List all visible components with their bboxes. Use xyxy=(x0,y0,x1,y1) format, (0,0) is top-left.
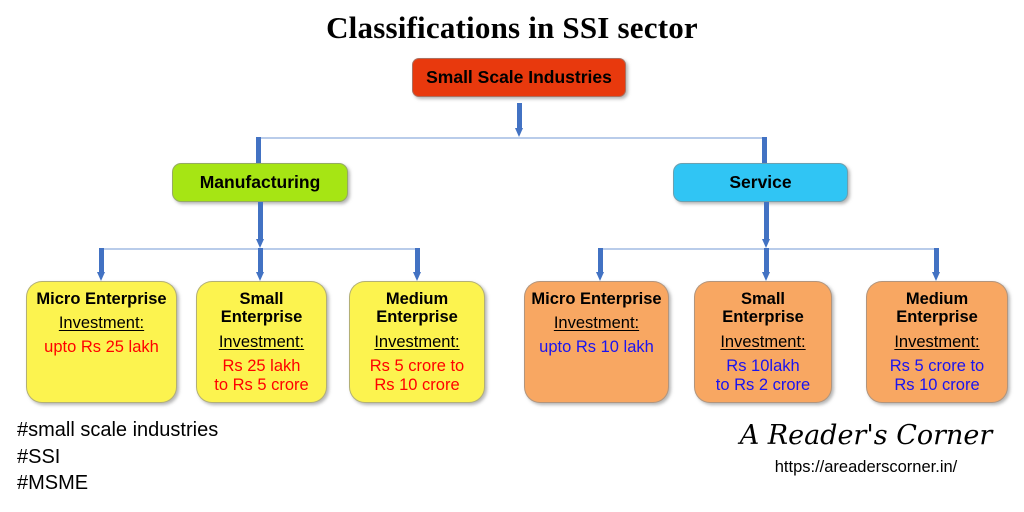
card-manufacturing-micro-enterprise[interactable]: Micro Enterprise Investment: upto Rs 25 … xyxy=(26,281,177,403)
brand-url[interactable]: https://areaderscorner.in/ xyxy=(726,458,1006,477)
card-service-micro-enterprise[interactable]: Micro Enterprise Investment: upto Rs 10 … xyxy=(524,281,669,403)
investment-value: Rs 10lakh to Rs 2 crore xyxy=(716,357,810,394)
investment-label: Investment: xyxy=(554,314,639,333)
enterprise-name: Micro Enterprise xyxy=(36,290,166,308)
connector-stub-manufacturing xyxy=(256,137,261,163)
investment-label: Investment: xyxy=(219,333,304,352)
connector-arrow-m-micro xyxy=(97,248,106,281)
node-manufacturing[interactable]: Manufacturing xyxy=(172,163,348,202)
investment-value: Rs 5 crore to Rs 10 crore xyxy=(890,357,984,394)
connector-stub-service xyxy=(762,137,767,163)
card-service-small-enterprise[interactable]: Small Enterprise Investment: Rs 10lakh t… xyxy=(694,281,832,403)
investment-value: Rs 5 crore to Rs 10 crore xyxy=(370,357,464,394)
connector-arrow-s-small xyxy=(762,248,771,281)
connector-arrow-root-down xyxy=(515,103,524,137)
brand-name: A Reader's Corner xyxy=(726,420,1006,451)
card-manufacturing-small-enterprise[interactable]: Small Enterprise Investment: Rs 25 lakh … xyxy=(196,281,327,403)
node-label: Manufacturing xyxy=(200,172,321,193)
node-small-scale-industries[interactable]: Small Scale Industries xyxy=(412,58,626,97)
connector-arrow-service-down xyxy=(762,202,771,248)
enterprise-name: Small Enterprise xyxy=(699,290,827,327)
enterprise-name: Medium Enterprise xyxy=(354,290,480,327)
investment-value: Rs 25 lakh to Rs 5 crore xyxy=(214,357,308,394)
investment-label: Investment: xyxy=(894,333,979,352)
connector-arrow-s-medium xyxy=(932,248,941,281)
enterprise-name: Micro Enterprise xyxy=(531,290,661,308)
investment-label: Investment: xyxy=(720,333,805,352)
connector-arrow-m-small xyxy=(256,248,265,281)
connector-arrow-s-micro xyxy=(596,248,605,281)
investment-label: Investment: xyxy=(374,333,459,352)
enterprise-name: Small Enterprise xyxy=(201,290,322,327)
connector-line-level1 xyxy=(258,137,766,139)
card-manufacturing-medium-enterprise[interactable]: Medium Enterprise Investment: Rs 5 crore… xyxy=(349,281,485,403)
connector-arrow-m-medium xyxy=(413,248,422,281)
node-service[interactable]: Service xyxy=(673,163,848,202)
card-service-medium-enterprise[interactable]: Medium Enterprise Investment: Rs 5 crore… xyxy=(866,281,1008,403)
investment-value: upto Rs 25 lakh xyxy=(44,338,159,357)
node-label: Service xyxy=(729,172,791,193)
hashtag-list: #small scale industries #SSI #MSME xyxy=(17,417,218,497)
enterprise-name: Medium Enterprise xyxy=(871,290,1003,327)
investment-label: Investment: xyxy=(59,314,144,333)
node-label: Small Scale Industries xyxy=(426,67,612,88)
diagram-canvas: Classifications in SSI sector Small Scal… xyxy=(0,0,1024,512)
investment-value: upto Rs 10 lakh xyxy=(539,338,654,357)
page-title: Classifications in SSI sector xyxy=(0,10,1024,46)
connector-arrow-manufacturing-down xyxy=(256,202,265,248)
